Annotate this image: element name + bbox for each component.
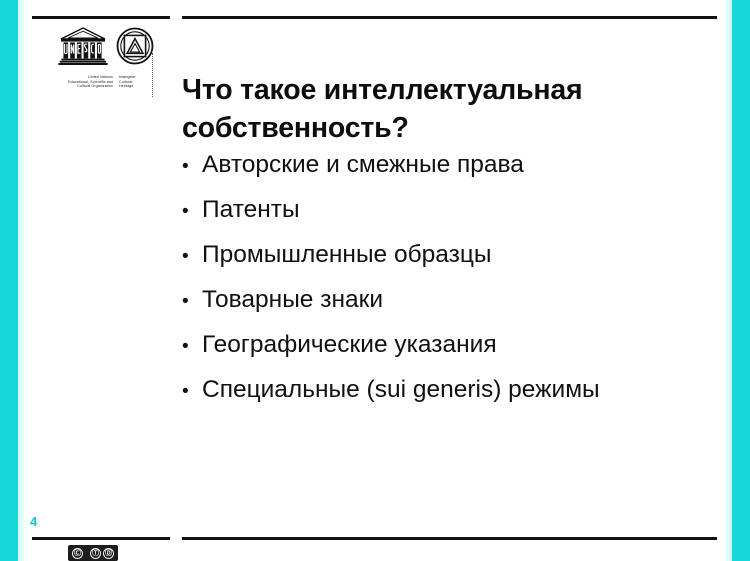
unesco-logo-lockup: United Nations Educational, Scientific a… xyxy=(46,26,166,89)
list-item: • Специальные (sui generis) режимы xyxy=(182,378,712,404)
rule-top-left xyxy=(32,16,170,19)
bullet-marker-icon: • xyxy=(182,290,202,314)
list-item: • Промышленные образцы xyxy=(182,243,712,269)
list-item-label: Авторские и смежные права xyxy=(202,153,524,177)
list-item-label: Товарные знаки xyxy=(202,288,383,312)
list-item: • Товарные знаки xyxy=(182,288,712,314)
logo-emblems-row xyxy=(46,26,166,73)
accent-bar-left xyxy=(0,0,18,561)
cc-nd-icon: Ⓓ xyxy=(103,548,114,559)
list-item: • Авторские и смежные права xyxy=(182,153,712,179)
list-item: • Патенты xyxy=(182,198,712,224)
rule-top-right xyxy=(182,16,717,19)
list-item-label: Промышленные образцы xyxy=(202,243,492,267)
unesco-temple-emblem-icon xyxy=(57,26,109,73)
intangible-cultural-heritage-emblem-icon xyxy=(115,26,155,71)
ich-caption: Intangible Cultural Heritage xyxy=(119,75,159,89)
bullet-list: • Авторские и смежные права • Патенты • … xyxy=(182,153,712,423)
unesco-caption-line-3: Cultural Organization xyxy=(53,84,113,89)
slide-title: Что такое интеллектуальная собственность… xyxy=(182,71,712,147)
bullet-marker-icon: • xyxy=(182,380,202,404)
unesco-caption: United Nations Educational, Scientific a… xyxy=(53,75,113,89)
logo-dotted-separator xyxy=(152,53,153,97)
bullet-marker-icon: • xyxy=(182,245,202,269)
bullet-marker-icon: • xyxy=(182,335,202,359)
rule-bottom-right xyxy=(182,537,717,540)
bullet-marker-icon: • xyxy=(182,200,202,224)
accent-bar-right-fade xyxy=(723,0,732,561)
cc-icon: Ⓒ xyxy=(72,548,83,559)
rule-bottom-left xyxy=(32,537,170,540)
list-item: • Географические указания xyxy=(182,333,712,359)
page-number: 4 xyxy=(30,514,37,529)
list-item-label: Географические указания xyxy=(202,333,497,357)
cc-by-icon: Ⓣ xyxy=(90,548,101,559)
accent-bar-right xyxy=(732,0,750,561)
presentation-slide: United Nations Educational, Scientific a… xyxy=(0,0,750,561)
bullet-marker-icon: • xyxy=(182,155,202,179)
accent-bar-left-fade xyxy=(18,0,27,561)
creative-commons-badge[interactable]: Ⓒ Ⓣ Ⓓ xyxy=(68,545,118,561)
logo-captions-row: United Nations Educational, Scientific a… xyxy=(46,75,166,89)
list-item-label: Патенты xyxy=(202,198,300,222)
list-item-label: Специальные (sui generis) режимы xyxy=(202,378,600,402)
ich-caption-line-3: Heritage xyxy=(119,84,159,89)
